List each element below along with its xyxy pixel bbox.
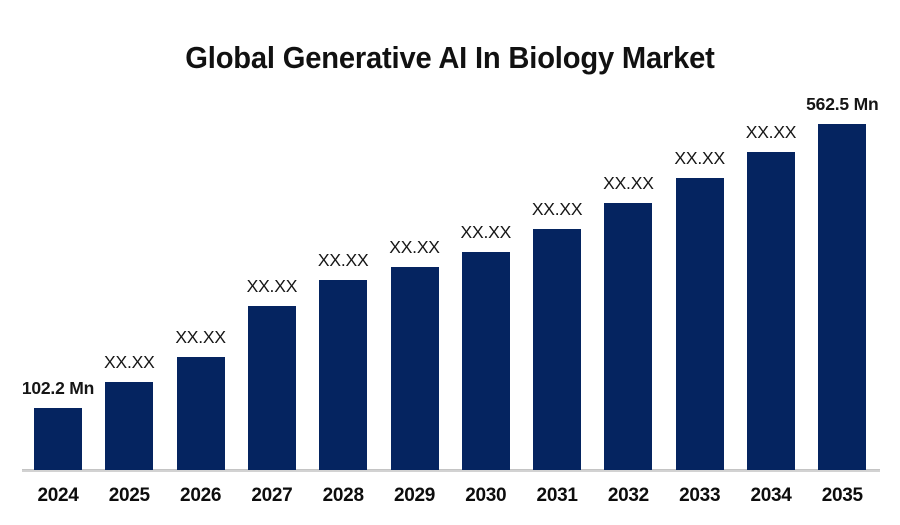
- bar-value-label-2027: XX.XX: [207, 278, 337, 296]
- bar-value-label-2033: XX.XX: [635, 150, 765, 168]
- bar-value-label-2034: XX.XX: [706, 124, 836, 142]
- bar-value-label-2029: XX.XX: [350, 239, 480, 257]
- bar-2032[interactable]: [604, 203, 652, 470]
- bar-2031[interactable]: [533, 229, 581, 470]
- bar-value-label-2035: 562.5 Mn: [777, 96, 900, 114]
- bar-2026[interactable]: [177, 357, 225, 470]
- bar-value-label-2032: XX.XX: [563, 175, 693, 193]
- bar-2034[interactable]: [747, 152, 795, 470]
- chart-container: Global Generative AI In Biology Market 1…: [0, 0, 900, 525]
- bar-value-label-2025: XX.XX: [64, 354, 194, 372]
- bar-2028[interactable]: [319, 280, 367, 470]
- bar-value-label-2030: XX.XX: [421, 224, 551, 242]
- bar-2025[interactable]: [105, 382, 153, 470]
- bar-2027[interactable]: [248, 306, 296, 470]
- bar-value-label-2031: XX.XX: [492, 201, 622, 219]
- bar-2024[interactable]: [34, 408, 82, 470]
- bar-2029[interactable]: [391, 267, 439, 470]
- plot-area: 102.2 Mn2024XX.XX2025XX.XX2026XX.XX2027X…: [0, 0, 900, 525]
- bar-2030[interactable]: [462, 252, 510, 470]
- x-axis-label-2035: 2035: [777, 485, 900, 507]
- bar-2035[interactable]: [818, 124, 866, 470]
- bar-value-label-2026: XX.XX: [136, 329, 266, 347]
- bar-2033[interactable]: [676, 178, 724, 470]
